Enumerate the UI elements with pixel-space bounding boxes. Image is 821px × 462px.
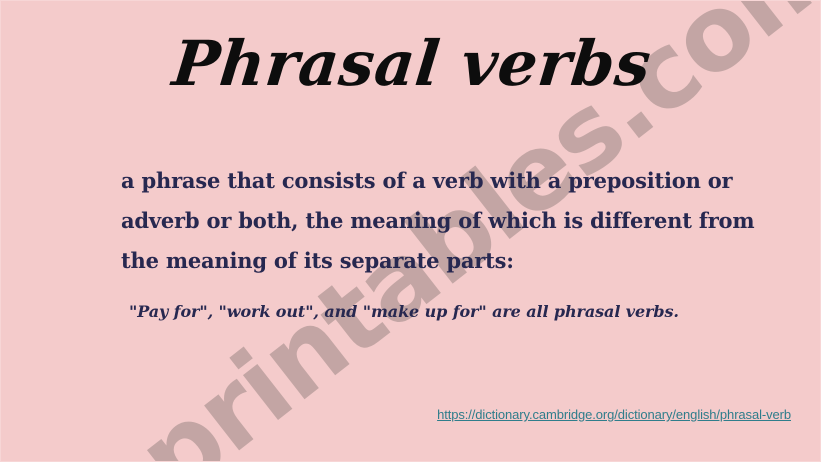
definition-block: a phrase that consists of a verb with a … <box>121 161 701 281</box>
slide-canvas: printables.com Phrasal verbs a phrase th… <box>0 0 821 462</box>
example-block: "Pay for", "work out", and "make up for"… <box>129 301 729 323</box>
page-title-text: Phrasal verbs <box>169 31 653 96</box>
source-block: https://dictionary.cambridge.org/diction… <box>1 406 791 424</box>
definition-line-1: a phrase that consists of a verb with a … <box>121 161 701 201</box>
source-url-link[interactable]: https://dictionary.cambridge.org/diction… <box>437 407 791 422</box>
definition-line-2: adverb or both, the meaning of which is … <box>121 201 701 241</box>
definition-line-3: the meaning of its separate parts: <box>121 241 701 281</box>
example-sentence: "Pay for", "work out", and "make up for"… <box>129 302 679 321</box>
page-title: Phrasal verbs <box>1 31 821 96</box>
